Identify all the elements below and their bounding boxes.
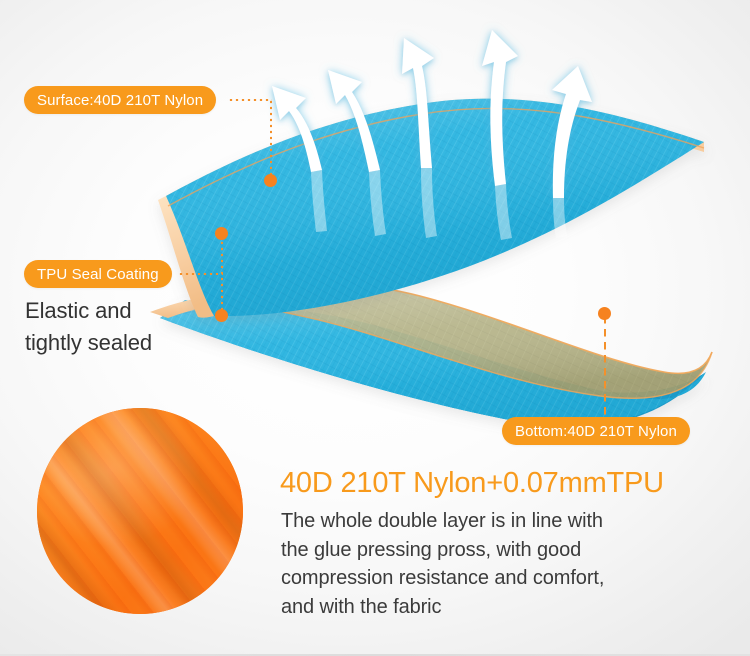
side-note-line-2: tightly sealed xyxy=(25,327,152,359)
connector-tpu-horizontal xyxy=(178,273,223,275)
connector-surface-vertical xyxy=(270,99,272,181)
anchor-dot-bottom xyxy=(598,307,611,320)
callout-body-line-2: the glue pressing pross, with good xyxy=(281,536,701,565)
product-infographic: Surface:40D 210T Nylon TPU Seal Coating … xyxy=(0,0,750,656)
anchor-dot-surface xyxy=(264,174,277,187)
callout-body-line-1: The whole double layer is in line with xyxy=(281,507,701,536)
side-note-line-1: Elastic and xyxy=(25,295,152,327)
connector-surface-horizontal xyxy=(228,99,272,101)
connector-bottom-vertical xyxy=(604,316,606,417)
callout-headline: 40D 210T Nylon+0.07mmTPU xyxy=(280,467,664,500)
swatch-sheen xyxy=(37,408,243,614)
orange-fabric-swatch xyxy=(37,408,243,614)
anchor-dot-tpu-bottom xyxy=(215,309,228,322)
callout-body-line-3: compression resistance and comfort, xyxy=(281,564,701,593)
connector-tpu-vertical xyxy=(221,234,223,316)
label-badge-bottom[interactable]: Bottom:40D 210T Nylon xyxy=(502,417,690,445)
callout-body-line-4: and with the fabric xyxy=(281,593,701,622)
callout-body: The whole double layer is in line with t… xyxy=(281,507,701,621)
side-note-elastic-sealed: Elastic and tightly sealed xyxy=(25,295,152,359)
anchor-dot-tpu-top xyxy=(215,227,228,240)
label-badge-surface[interactable]: Surface:40D 210T Nylon xyxy=(24,86,216,114)
label-badge-tpu-seal-coating[interactable]: TPU Seal Coating xyxy=(24,260,172,288)
